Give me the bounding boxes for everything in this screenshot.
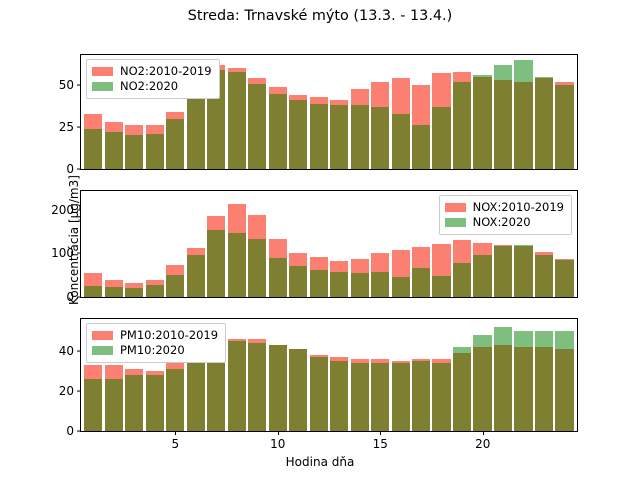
bar-segment-overlap	[453, 353, 471, 431]
bar-segment-overlap	[166, 369, 184, 431]
legend-swatch	[92, 67, 113, 76]
bar-segment-overlap	[146, 285, 164, 297]
bar-segment-overlap	[371, 107, 389, 169]
y-tick-label: 25	[14, 120, 81, 134]
bar-group	[370, 55, 390, 169]
bar-group	[472, 319, 492, 431]
bar-segment-overlap	[310, 104, 328, 169]
subplot-pm10: PM10:2010-2019PM10:2020 02040 5101520	[80, 318, 578, 432]
y-tick-mark	[77, 296, 81, 297]
bar-group	[349, 55, 369, 169]
bar-segment-overlap	[166, 275, 184, 297]
legend-item: NOX:2020	[445, 215, 564, 230]
bar-group	[390, 319, 410, 431]
y-tick-label: 200	[14, 203, 81, 217]
x-tick-mark	[278, 431, 279, 435]
bar-group	[288, 191, 308, 297]
bar-segment-overlap	[84, 286, 102, 297]
bar-group	[411, 55, 431, 169]
x-tick-mark	[175, 431, 176, 435]
legend-label: PM10:2020	[120, 343, 185, 358]
bar-group	[145, 191, 165, 297]
bar-segment-overlap	[125, 135, 143, 169]
bar-group	[165, 191, 185, 297]
bar-segment-overlap	[371, 363, 389, 431]
legend-item: NOX:2010-2019	[445, 200, 564, 215]
legend-swatch	[92, 346, 113, 355]
bar-segment-overlap	[351, 105, 369, 169]
legend-label: NO2:2010-2019	[120, 64, 212, 79]
bar-segment-overlap	[473, 255, 491, 297]
bar-segment-overlap	[248, 239, 266, 297]
x-tick-label: 5	[171, 437, 179, 451]
bar-group	[227, 319, 247, 431]
bar-segment-overlap	[187, 357, 205, 431]
bar-segment-overlap	[248, 84, 266, 170]
legend-swatch	[445, 218, 466, 227]
y-tick-mark	[77, 209, 81, 210]
bar-group	[288, 55, 308, 169]
bar-group	[329, 55, 349, 169]
bar-segment-overlap	[412, 361, 430, 431]
y-tick-label: 50	[14, 78, 81, 92]
bar-group	[370, 319, 390, 431]
y-tick-mark	[77, 253, 81, 254]
bar-segment-overlap	[330, 105, 348, 169]
bar-segment-overlap	[269, 258, 287, 297]
legend-item: PM10:2010-2019	[92, 328, 218, 343]
y-tick-mark	[77, 390, 81, 391]
bar-group	[349, 319, 369, 431]
legend-swatch	[92, 82, 113, 91]
bar-segment-overlap	[228, 72, 246, 169]
bar-group	[206, 191, 226, 297]
bar-group	[247, 319, 267, 431]
bar-segment-overlap	[330, 272, 348, 297]
bar-segment-overlap	[207, 230, 225, 297]
y-tick-label: 100	[14, 246, 81, 260]
bar-segment-overlap	[494, 246, 512, 297]
bar-group	[227, 191, 247, 297]
bar-segment-overlap	[473, 77, 491, 169]
x-axis-label: Hodina dňa	[0, 455, 640, 469]
bar-segment-overlap	[248, 343, 266, 431]
bar-group	[268, 319, 288, 431]
bar-segment-overlap	[228, 341, 246, 431]
bar-segment-overlap	[494, 345, 512, 431]
bar-group	[288, 319, 308, 431]
bar-group	[534, 319, 554, 431]
bar-segment-overlap	[453, 263, 471, 297]
bar-segment-overlap	[289, 266, 307, 297]
bar-group	[227, 55, 247, 169]
y-axis-label: Koncentrácia [µg/m3]	[67, 175, 81, 305]
bar-segment-overlap	[228, 233, 246, 297]
bar-group	[309, 191, 329, 297]
bar-segment-overlap	[187, 255, 205, 297]
bar-group	[247, 55, 267, 169]
bar-group	[247, 191, 267, 297]
x-tick-mark	[380, 431, 381, 435]
bar-group	[411, 191, 431, 297]
bar-segment-overlap	[555, 349, 573, 431]
legend-swatch	[92, 331, 113, 340]
legend-swatch	[445, 203, 466, 212]
bar-segment-overlap	[351, 363, 369, 431]
y-tick-label: 0	[14, 162, 81, 176]
bar-group	[370, 191, 390, 297]
legend-label: NOX:2010-2019	[473, 200, 564, 215]
y-tick-label: 0	[14, 290, 81, 304]
bar-segment-overlap	[432, 276, 450, 297]
bar-group	[309, 55, 329, 169]
y-tick-mark	[77, 127, 81, 128]
bar-group	[554, 55, 574, 169]
bar-segment-overlap	[535, 255, 553, 297]
bar-group	[268, 55, 288, 169]
bar-group	[452, 319, 472, 431]
bar-group	[104, 191, 124, 297]
bar-group	[431, 319, 451, 431]
legend-item: PM10:2020	[92, 343, 218, 358]
bar-group	[186, 191, 206, 297]
bar-group	[452, 55, 472, 169]
bar-segment-overlap	[535, 347, 553, 431]
y-tick-mark	[77, 168, 81, 169]
bar-segment-overlap	[84, 129, 102, 169]
bar-segment-overlap	[514, 246, 532, 297]
figure: Streda: Trnavské mýto (13.3. - 13.4.) Ko…	[0, 0, 640, 480]
bar-group	[329, 191, 349, 297]
chart-title: Streda: Trnavské mýto (13.3. - 13.4.)	[0, 8, 640, 24]
bar-segment-overlap	[105, 379, 123, 431]
legend-item: NO2:2020	[92, 79, 212, 94]
bar-group	[390, 191, 410, 297]
bar-group	[329, 319, 349, 431]
bar-segment-overlap	[453, 82, 471, 169]
bar-group	[493, 319, 513, 431]
bar-group	[554, 319, 574, 431]
bar-group	[268, 191, 288, 297]
legend-item: NO2:2010-2019	[92, 64, 212, 79]
bar-group	[349, 191, 369, 297]
bar-segment-overlap	[371, 272, 389, 297]
bar-segment-overlap	[392, 363, 410, 431]
bar-segment-overlap	[514, 347, 532, 431]
bar-segment-overlap	[432, 363, 450, 431]
bar-segment-overlap	[289, 100, 307, 169]
subplot-nox: NOX:2010-2019NOX:2020 0100200	[80, 190, 578, 298]
y-tick-mark	[77, 85, 81, 86]
bar-segment-overlap	[289, 349, 307, 431]
bar-segment-overlap	[166, 119, 184, 169]
bar-group	[493, 55, 513, 169]
y-tick-mark	[77, 430, 81, 431]
bar-segment-overlap	[351, 273, 369, 297]
bar-group	[390, 55, 410, 169]
bar-segment-overlap	[269, 345, 287, 431]
bar-group	[309, 319, 329, 431]
x-tick-mark	[483, 431, 484, 435]
bar-segment-overlap	[330, 361, 348, 431]
legend-pm10[interactable]: PM10:2010-2019PM10:2020	[86, 323, 226, 363]
bar-segment-overlap	[535, 78, 553, 169]
bar-group	[83, 191, 103, 297]
bar-segment-overlap	[555, 260, 573, 297]
bar-group	[513, 55, 533, 169]
bar-segment-overlap	[494, 80, 512, 169]
bar-segment-overlap	[125, 288, 143, 297]
bar-segment-overlap	[432, 107, 450, 169]
bar-segment-overlap	[105, 132, 123, 169]
bar-group	[411, 319, 431, 431]
legend-nox[interactable]: NOX:2010-2019NOX:2020	[439, 195, 572, 235]
bar-segment-overlap	[392, 277, 410, 297]
x-tick-label: 10	[270, 437, 285, 451]
y-tick-mark	[77, 350, 81, 351]
x-tick-label: 15	[373, 437, 388, 451]
bar-group	[124, 191, 144, 297]
bar-group	[513, 319, 533, 431]
legend-no2[interactable]: NO2:2010-2019NO2:2020	[86, 59, 220, 99]
bar-segment-overlap	[392, 114, 410, 169]
subplot-no2: NO2:2010-2019NO2:2020 02550	[80, 54, 578, 170]
legend-label: NOX:2020	[473, 215, 531, 230]
bar-segment-overlap	[412, 125, 430, 169]
bar-segment-overlap	[412, 268, 430, 297]
bar-segment-overlap	[146, 134, 164, 169]
bar-group	[534, 55, 554, 169]
bar-segment-overlap	[310, 270, 328, 297]
bar-group	[431, 55, 451, 169]
y-tick-label: 0	[14, 424, 81, 438]
bar-segment-overlap	[125, 375, 143, 431]
bar-segment-overlap	[514, 82, 532, 169]
legend-label: PM10:2010-2019	[120, 328, 218, 343]
bar-segment-overlap	[146, 375, 164, 431]
bar-segment-overlap	[473, 347, 491, 431]
bar-segment-overlap	[84, 379, 102, 431]
bar-segment-overlap	[269, 94, 287, 169]
x-tick-label: 20	[475, 437, 490, 451]
bar-segment-overlap	[105, 287, 123, 297]
bar-group	[472, 55, 492, 169]
bar-segment-overlap	[310, 357, 328, 431]
bar-segment-overlap	[555, 85, 573, 169]
y-tick-label: 40	[14, 344, 81, 358]
legend-label: NO2:2020	[120, 79, 178, 94]
y-tick-label: 20	[14, 384, 81, 398]
